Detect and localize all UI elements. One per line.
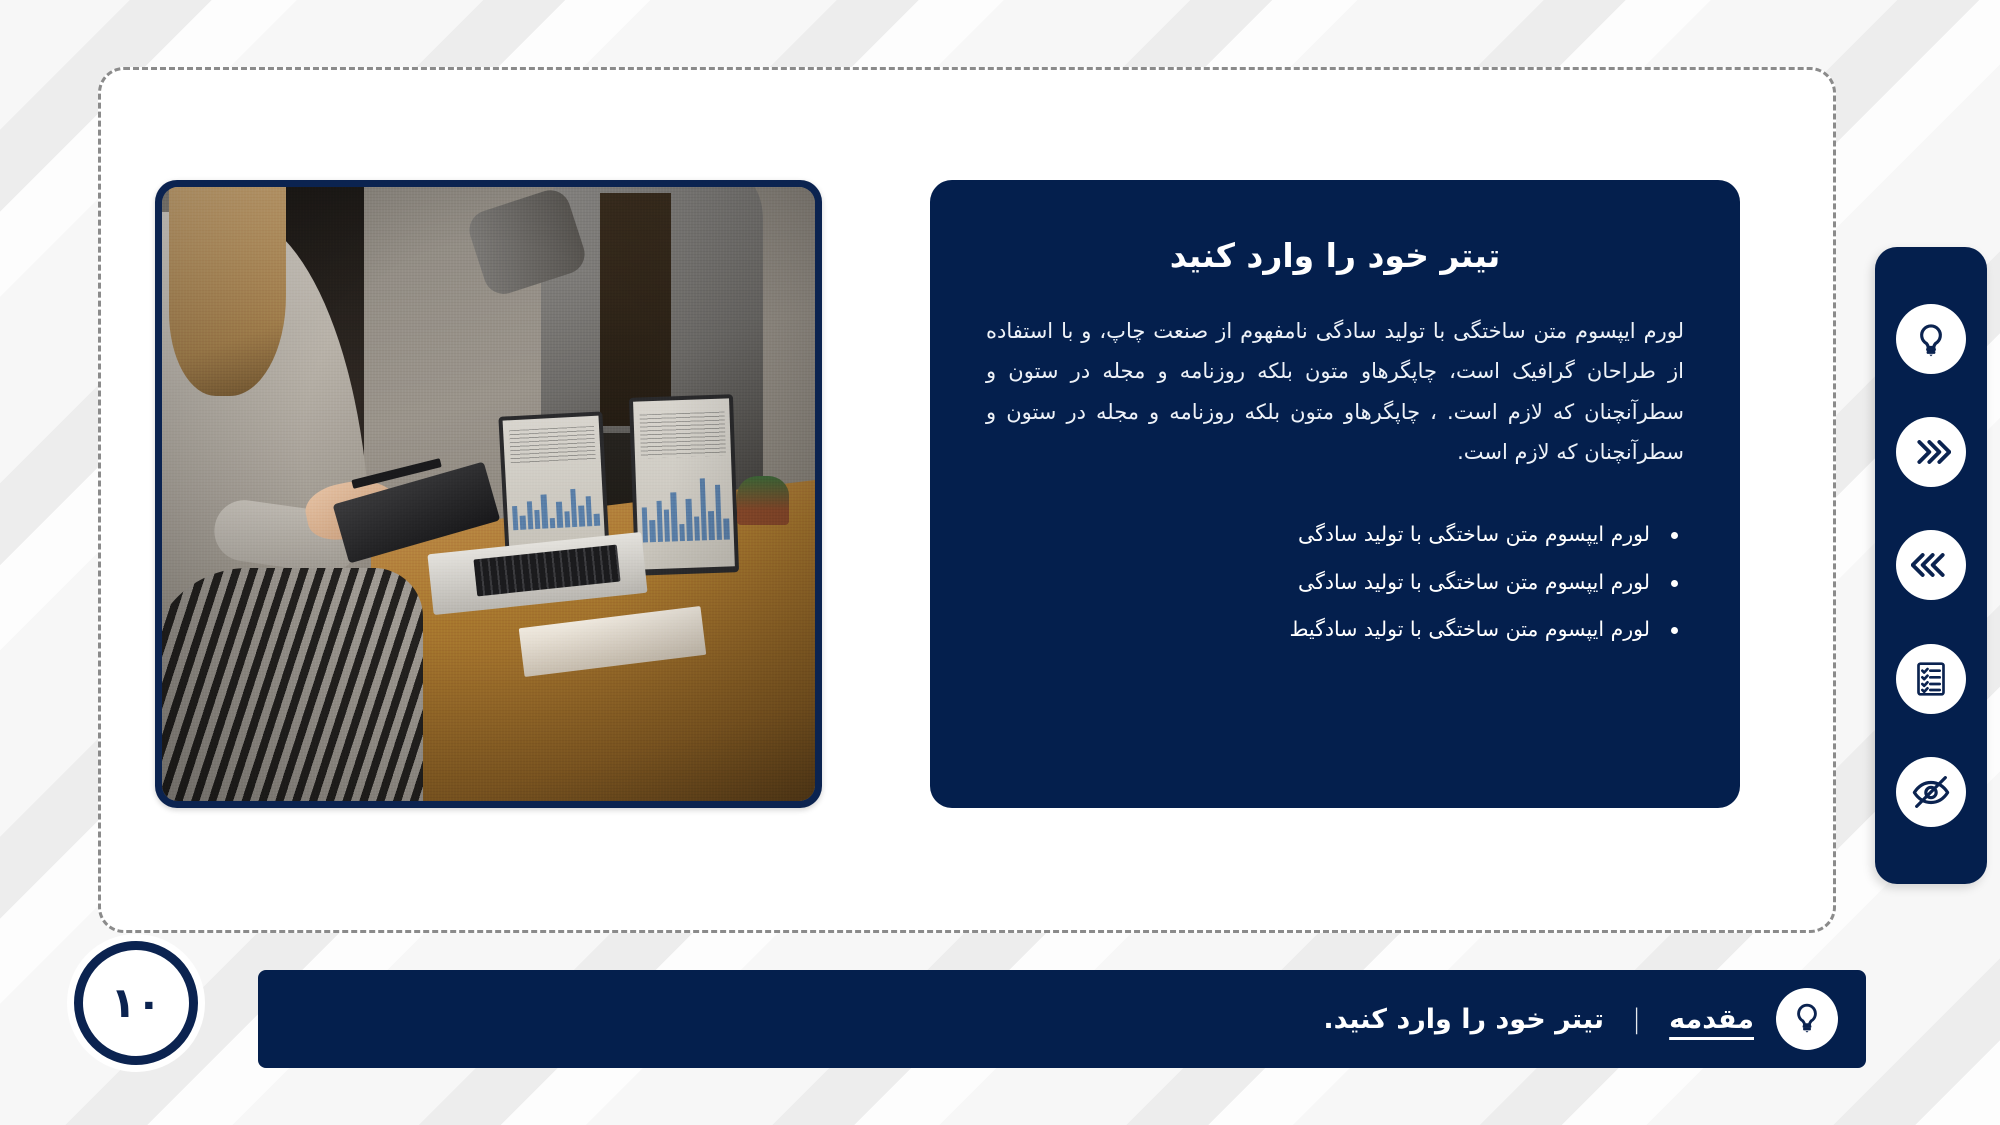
page-number-badge: ۱۰ (74, 941, 198, 1065)
card-bullet-list: لورم ایپسوم متن ساختگی با تولید سادگی لو… (986, 524, 1684, 640)
content-card: تیتر خود را وارد کنید لورم ایپسوم متن سا… (930, 180, 1740, 808)
rail-button-prev[interactable] (1896, 530, 1966, 600)
lightbulb-icon (1911, 319, 1951, 359)
eye-slash-icon (1911, 772, 1951, 812)
list-item: لورم ایپسوم متن ساختگی با تولید سادگی (986, 572, 1684, 593)
footer-lightbulb-badge[interactable] (1776, 988, 1838, 1050)
list-item-label: لورم ایپسوم متن ساختگی با تولید سادگی (1298, 522, 1650, 546)
rail-button-next[interactable] (1896, 417, 1966, 487)
page-number-label: ۱۰ (110, 982, 161, 1024)
list-item: لورم ایپسوم متن ساختگی با تولید سادگی (986, 524, 1684, 545)
icon-rail (1875, 247, 1987, 884)
photo-vignette (162, 187, 815, 801)
footer-separator: | (1632, 1004, 1641, 1035)
footer-slide-title: تیتر خود را وارد کنید. (1323, 1004, 1604, 1035)
rail-button-checklist[interactable] (1896, 644, 1966, 714)
lightbulb-icon (1789, 999, 1825, 1039)
bullet-dot-icon (1671, 627, 1678, 634)
chevrons-right-icon (1911, 432, 1951, 472)
bullet-dot-icon (1671, 580, 1678, 587)
card-title: تیتر خود را وارد کنید (986, 236, 1684, 275)
bullet-dot-icon (1671, 532, 1678, 539)
card-paragraph: لورم ایپسوم متن ساختگی با تولید سادگی نا… (986, 311, 1684, 472)
chevrons-left-icon (1911, 545, 1951, 585)
footer-bar: مقدمه | تیتر خود را وارد کنید. (258, 970, 1866, 1068)
rail-button-hide[interactable] (1896, 757, 1966, 827)
list-item-label: لورم ایپسوم متن ساختگی با تولید سادگیط (1289, 617, 1650, 641)
list-item: لورم ایپسوم متن ساختگی با تولید سادگیط (986, 619, 1684, 640)
checklist-icon (1911, 659, 1951, 699)
photo-card (155, 180, 822, 808)
list-item-label: لورم ایپسوم متن ساختگی با تولید سادگی (1298, 570, 1650, 594)
meeting-photo (162, 187, 815, 801)
rail-button-lightbulb[interactable] (1896, 304, 1966, 374)
footer-section-label[interactable]: مقدمه (1669, 1004, 1754, 1035)
